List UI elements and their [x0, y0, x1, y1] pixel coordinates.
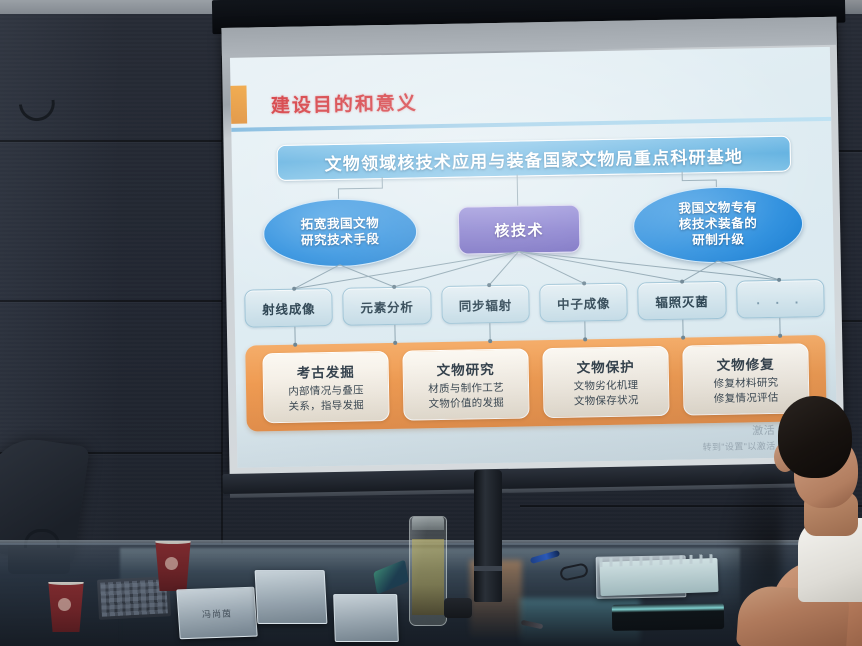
application-card-line: 材质与制作工艺 [428, 381, 504, 397]
tea-contents [412, 539, 444, 615]
application-card-relic-protection: 文物保护 文物劣化机理 文物保存状况 [542, 346, 669, 418]
application-card-line: 关系，指导发掘 [288, 398, 364, 414]
technique-chip-irradiation-sterilization: 辐照灭菌 [637, 281, 726, 321]
line-2: 核技术装备的 [679, 216, 758, 231]
title-accent-bar [230, 86, 247, 124]
tumbler-lid [444, 598, 472, 618]
diagram-node-nuclear-tech: 核技术 [458, 204, 581, 254]
technique-chip-label: 辐照灭菌 [655, 291, 709, 311]
line-2: 研究技术手段 [301, 232, 380, 247]
spiral-notebook [599, 558, 718, 596]
name-plate [255, 570, 328, 624]
technique-chip-element-analysis: 元素分析 [343, 286, 432, 326]
application-card-title: 考古发掘 [297, 361, 355, 382]
application-card-line: 修复材料研究 [713, 376, 778, 392]
technique-chip-neutron-imaging: 中子成像 [539, 283, 628, 323]
diagram-root-label: 文物领域核技术应用与装备国家文物局重点科研基地 [324, 142, 743, 175]
application-card-line: 文物价值的发掘 [428, 395, 504, 411]
diagram-node-goal-left-label: 拓宽我国文物 研究技术手段 [301, 216, 380, 249]
application-band: 考古发掘 内部情况与叠压 关系，指导发掘 文物研究 材质与制作工艺 文物价值的发… [245, 335, 826, 432]
technique-chip-more: . . . [736, 279, 825, 319]
name-plate [333, 594, 399, 642]
application-card-line: 文物劣化机理 [573, 378, 638, 394]
seated-attendee [742, 392, 862, 646]
conference-microphone[interactable] [474, 470, 502, 602]
technique-chip-label: 中子成像 [557, 292, 611, 312]
slide-title: 建设目的和意义 [271, 88, 418, 118]
name-plate-label: 冯尚茵 [202, 606, 233, 620]
diagram-root-node: 文物领域核技术应用与装备国家文物局重点科研基地 [277, 136, 792, 181]
person-hair [778, 396, 852, 478]
application-card-title: 文物研究 [437, 358, 495, 379]
wall-seam [0, 300, 222, 302]
technique-chip-synchrotron: 同步辐射 [441, 284, 530, 324]
application-card-line: 内部情况与叠压 [288, 383, 364, 399]
tea-tumbler [409, 516, 447, 626]
line-1: 拓宽我国文物 [301, 216, 380, 231]
slide-title-row: 建设目的和意义 [230, 75, 831, 124]
wall-seam [0, 140, 222, 142]
tumbler-cap [412, 516, 444, 530]
application-card-archaeology: 考古发掘 内部情况与叠压 关系，指导发掘 [262, 351, 389, 423]
application-card-relic-research: 文物研究 材质与制作工艺 文物价值的发掘 [402, 348, 529, 420]
diagram-node-goal-right: 我国文物专有 核技术装备的 研制升级 [632, 185, 803, 264]
diagram-node-nuclear-tech-label: 核技术 [494, 219, 544, 241]
application-card-title: 文物保护 [576, 355, 634, 376]
microphone-band [474, 566, 502, 571]
diagram-node-goal-right-label: 我国文物专有 核技术装备的 研制升级 [678, 201, 757, 250]
diagram-node-goal-left: 拓宽我国文物 研究技术手段 [263, 197, 418, 268]
conference-room-scene: 建设目的和意义 [0, 0, 862, 646]
technique-chip-xray-imaging: 射线成像 [244, 288, 333, 328]
technique-chip-label: 同步辐射 [459, 294, 513, 314]
cup-logo [165, 557, 178, 570]
technique-chip-row: 射线成像 元素分析 同步辐射 中子成像 辐照灭菌 . . . [244, 279, 825, 328]
line-1: 我国文物专有 [678, 201, 757, 216]
application-card-title: 文物修复 [716, 353, 774, 374]
line-3: 研制升级 [692, 232, 745, 247]
cup-logo [58, 598, 71, 611]
second-notebook [612, 603, 724, 631]
technique-chip-label: 射线成像 [262, 298, 316, 318]
name-plate: 冯尚茵 [176, 587, 257, 640]
wall-seam [836, 150, 862, 152]
ellipsis-icon: . . . [756, 291, 804, 307]
application-card-line: 文物保存状况 [574, 393, 639, 409]
technique-chip-label: 元素分析 [360, 296, 414, 316]
